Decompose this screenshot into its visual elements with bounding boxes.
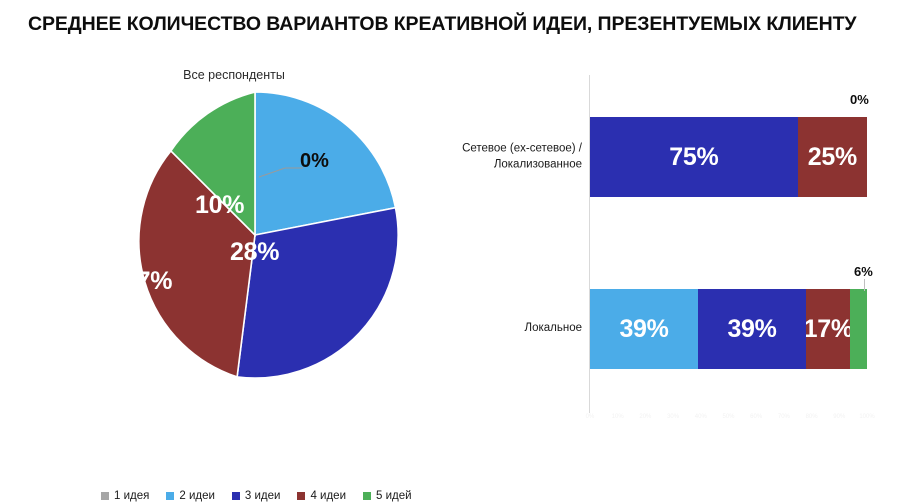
legend-item-1-ideya[interactable]: 1 идея <box>101 490 149 502</box>
bar-segment-label: 75% <box>669 143 718 172</box>
bar-segment-label: 39% <box>619 315 668 344</box>
axis-tick-label: 90% <box>833 414 845 420</box>
legend-swatch-icon <box>297 492 305 500</box>
legend-item-3-idei[interactable]: 3 идеи <box>232 490 281 502</box>
bar-end-label-lokalnoe: 6% <box>854 264 873 279</box>
pie-chart-subtitle: Все респонденты <box>0 68 468 82</box>
bar-category-label-setevoe: Сетевое (ex-сетевое) / Локализованное <box>422 141 582 172</box>
bar-end-leader-line <box>864 279 865 291</box>
legend-label: 3 идеи <box>245 490 281 502</box>
page-title: СРЕДНЕЕ КОЛИЧЕСТВО ВАРИАНТОВ КРЕАТИВНОЙ … <box>28 12 868 37</box>
legend-item-2-idei[interactable]: 2 идеи <box>166 490 215 502</box>
legend-swatch-icon <box>232 492 240 500</box>
pie-callout-leader-line <box>259 164 303 178</box>
bar-segment-5-idey[interactable] <box>850 289 867 369</box>
pie-chart <box>110 90 400 380</box>
legend-item-5-idey[interactable]: 5 идей <box>363 490 412 502</box>
legend-swatch-icon <box>166 492 174 500</box>
axis-tick-label: 20% <box>639 414 651 420</box>
legend-label: 1 идея <box>114 490 149 502</box>
bar-category-label-line1: Сетевое (ex-сетевое) / <box>422 141 582 157</box>
bar-chart-axis-ticks: 0%10%20%30%40%50%60%70%80%90%100% <box>590 414 867 426</box>
bar-segment-3-idei[interactable]: 39% <box>698 289 806 369</box>
pie-data-label-1-ideya: 0% <box>300 150 329 173</box>
legend-swatch-icon <box>101 492 109 500</box>
legend-item-4-idei[interactable]: 4 идеи <box>297 490 346 502</box>
bar-segment-label: 25% <box>808 143 857 172</box>
pie-chart-svg <box>110 90 400 380</box>
legend-swatch-icon <box>363 492 371 500</box>
bar-segment-3-idei[interactable]: 75% <box>590 117 798 197</box>
pie-data-label-3-idei: 45% <box>228 380 277 409</box>
axis-tick-label: 40% <box>695 414 707 420</box>
bar-chart-panel: Сетевое (ex-сетевое) / Локализованное 75… <box>468 62 900 454</box>
bar-track-lokalnoe: 39% 39% 17% <box>590 289 867 369</box>
bar-segment-2-idei[interactable]: 39% <box>590 289 698 369</box>
bar-segment-4-idei[interactable]: 17% <box>806 289 850 369</box>
axis-tick-label: 70% <box>778 414 790 420</box>
bar-row-lokalnoe: Локальное 39% 39% 17% 6% <box>468 289 900 369</box>
axis-tick-label: 0% <box>586 414 595 420</box>
axis-tick-label: 80% <box>806 414 818 420</box>
bar-segment-4-idei[interactable]: 25% <box>798 117 867 197</box>
axis-tick-label: 100% <box>859 414 874 420</box>
bar-category-label-lokalnoe: Локальное <box>422 321 582 337</box>
bar-segment-label: 17% <box>806 315 850 344</box>
axis-tick-label: 50% <box>722 414 734 420</box>
bar-end-label-setevoe: 0% <box>850 92 869 107</box>
pie-chart-legend: 1 идея 2 идеи 3 идеи 4 идеи 5 идей <box>101 490 412 502</box>
pie-slice-3-idei <box>237 208 398 378</box>
bar-track-setevoe: 75% 25% <box>590 117 867 197</box>
axis-tick-label: 10% <box>612 414 624 420</box>
axis-tick-label: 30% <box>667 414 679 420</box>
legend-label: 5 идей <box>376 490 412 502</box>
legend-label: 2 идеи <box>179 490 215 502</box>
bar-row-setevoe: Сетевое (ex-сетевое) / Локализованное 75… <box>468 117 900 197</box>
legend-label: 4 идеи <box>310 490 346 502</box>
bar-segment-label: 39% <box>727 315 776 344</box>
axis-tick-label: 60% <box>750 414 762 420</box>
bar-category-label-line2: Локализованное <box>422 157 582 173</box>
pie-chart-panel: Все респонденты 0% 28% 45% 17% 10% 1 иде… <box>0 62 468 454</box>
